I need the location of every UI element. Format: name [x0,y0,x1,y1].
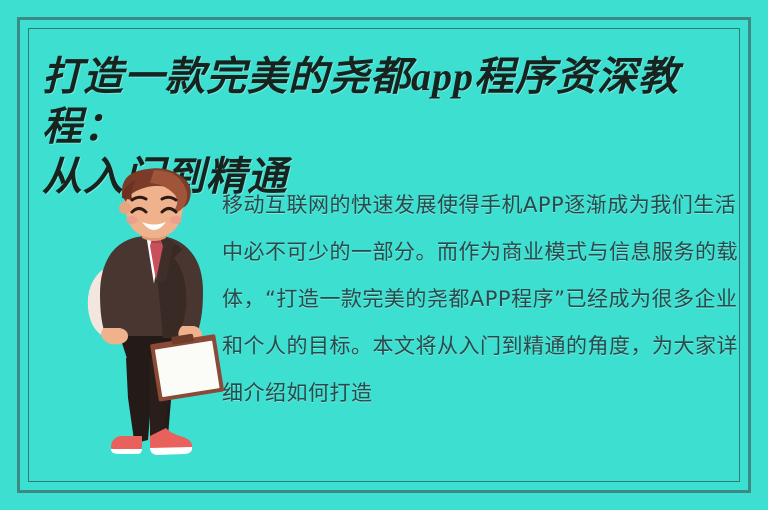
article-banner: 打造一款完美的尧都app程序资深教程： 从入门到精通 移动互联网的快速发展使得手… [0,0,768,510]
hand-left [101,328,128,345]
cheek-right [170,216,182,224]
article-body-text: 移动互联网的快速发展使得手机APP逐渐成为我们生活中必不可少的一部分。而作为商业… [222,182,754,482]
ear-left [119,202,131,214]
cheek-left [126,216,138,224]
leg-left [126,358,148,440]
businessman-illustration [62,168,232,488]
shoe-left [111,436,142,454]
